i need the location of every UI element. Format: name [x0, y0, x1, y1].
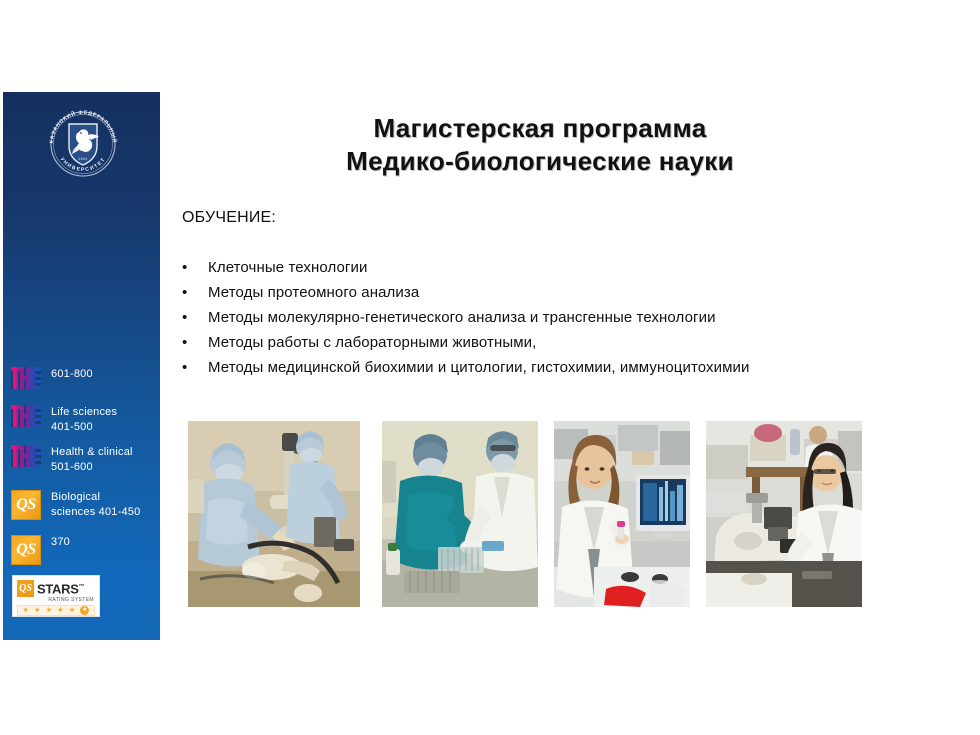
- photo-two-researchers-dissection: [382, 421, 538, 607]
- qs-logo-icon: QS: [11, 535, 41, 565]
- ranking-label: Life sciences 401-500: [51, 405, 117, 435]
- qs-stars-wordmark: STARS™: [37, 580, 84, 596]
- qs-logo-icon: QS: [11, 490, 41, 520]
- list-item: • Методы медицинской биохимии и цитологи…: [182, 356, 842, 379]
- star-icon-highlighted: ★: [80, 606, 89, 615]
- star-icon: ★: [69, 607, 75, 614]
- star-icon: ★: [46, 607, 52, 614]
- list-item: • Клеточные технологии: [182, 256, 842, 279]
- list-item-label: Клеточные технологии: [208, 256, 842, 279]
- photo-woman-pipetting-monitor: [554, 421, 690, 607]
- bullet-marker-icon: •: [182, 256, 208, 279]
- ranking-row-the-overall: 601-800: [11, 367, 93, 389]
- list-item: • Методы протеомного анализа: [182, 281, 842, 304]
- title-line-2: Медико-биологические науки: [200, 145, 880, 178]
- ranking-row-qs-biological-sciences: QS Biological sciences 401-450: [11, 490, 140, 520]
- star-icon: ★: [57, 607, 63, 614]
- list-item-label: Методы медицинской биохимии и цитологии,…: [208, 356, 842, 379]
- trademark-symbol: ™: [79, 584, 85, 590]
- bullet-marker-icon: •: [182, 281, 208, 304]
- photo-woman-microtome: [706, 421, 862, 607]
- list-item: • Методы работы с лабораторными животным…: [182, 331, 842, 354]
- page-title: Магистерская программа Медико-биологичес…: [200, 112, 880, 178]
- photo-strip: [188, 421, 862, 607]
- qs-stars-headline: QS STARS™: [17, 579, 95, 598]
- section-subhead: ОБУЧЕНИЕ:: [182, 208, 276, 228]
- title-line-1: Магистерская программа: [200, 112, 880, 145]
- ranking-label: 601-800: [51, 367, 93, 382]
- qs-stars-subtitle: RATING SYSTEM: [17, 597, 95, 603]
- slide-canvas: КАЗАНСКИЙ ФЕДЕРАЛЬНЫЙ УНИВЕРСИТЕТ 1804: [0, 0, 980, 735]
- qs-stars-badge: QS STARS™ RATING SYSTEM ★ ★ ★ ★ ★ ★: [12, 575, 100, 617]
- star-icon: ★: [34, 607, 40, 614]
- university-seal-icon: КАЗАНСКИЙ ФЕДЕРАЛЬНЫЙ УНИВЕРСИТЕТ 1804: [41, 102, 125, 186]
- bullet-marker-icon: •: [182, 306, 208, 329]
- star-icon: ★: [23, 607, 29, 614]
- ranking-label: Biological sciences 401-450: [51, 490, 140, 520]
- ranking-row-qs-overall: QS 370: [11, 535, 70, 565]
- list-item-label: Методы протеомного анализа: [208, 281, 842, 304]
- bullet-list: • Клеточные технологии • Методы протеомн…: [182, 256, 842, 381]
- the-logo-icon: [11, 405, 41, 427]
- photo-lab-surgery-microscope: [188, 421, 360, 607]
- bullet-marker-icon: •: [182, 331, 208, 354]
- the-logo-icon: [11, 367, 41, 389]
- qs-stars-text: STARS: [37, 582, 79, 597]
- ranking-label: 370: [51, 535, 70, 550]
- qs-logo-icon: QS: [17, 580, 34, 597]
- list-item-label: Методы работы с лабораторными животными,: [208, 331, 842, 354]
- bullet-marker-icon: •: [182, 356, 208, 379]
- ranking-row-the-life-sciences: Life sciences 401-500: [11, 405, 117, 435]
- svg-text:1804: 1804: [78, 157, 88, 161]
- qs-stars-rating-strip: ★ ★ ★ ★ ★ ★: [17, 605, 95, 616]
- ranking-row-the-health-clinical: Health & clinical 501-600: [11, 445, 133, 475]
- the-logo-icon: [11, 445, 41, 467]
- list-item-label: Методы молекулярно-генетического анализа…: [208, 306, 842, 329]
- ranking-label: Health & clinical 501-600: [51, 445, 133, 475]
- brand-sidebar: КАЗАНСКИЙ ФЕДЕРАЛЬНЫЙ УНИВЕРСИТЕТ 1804: [3, 92, 160, 640]
- list-item: • Методы молекулярно-генетического анали…: [182, 306, 842, 329]
